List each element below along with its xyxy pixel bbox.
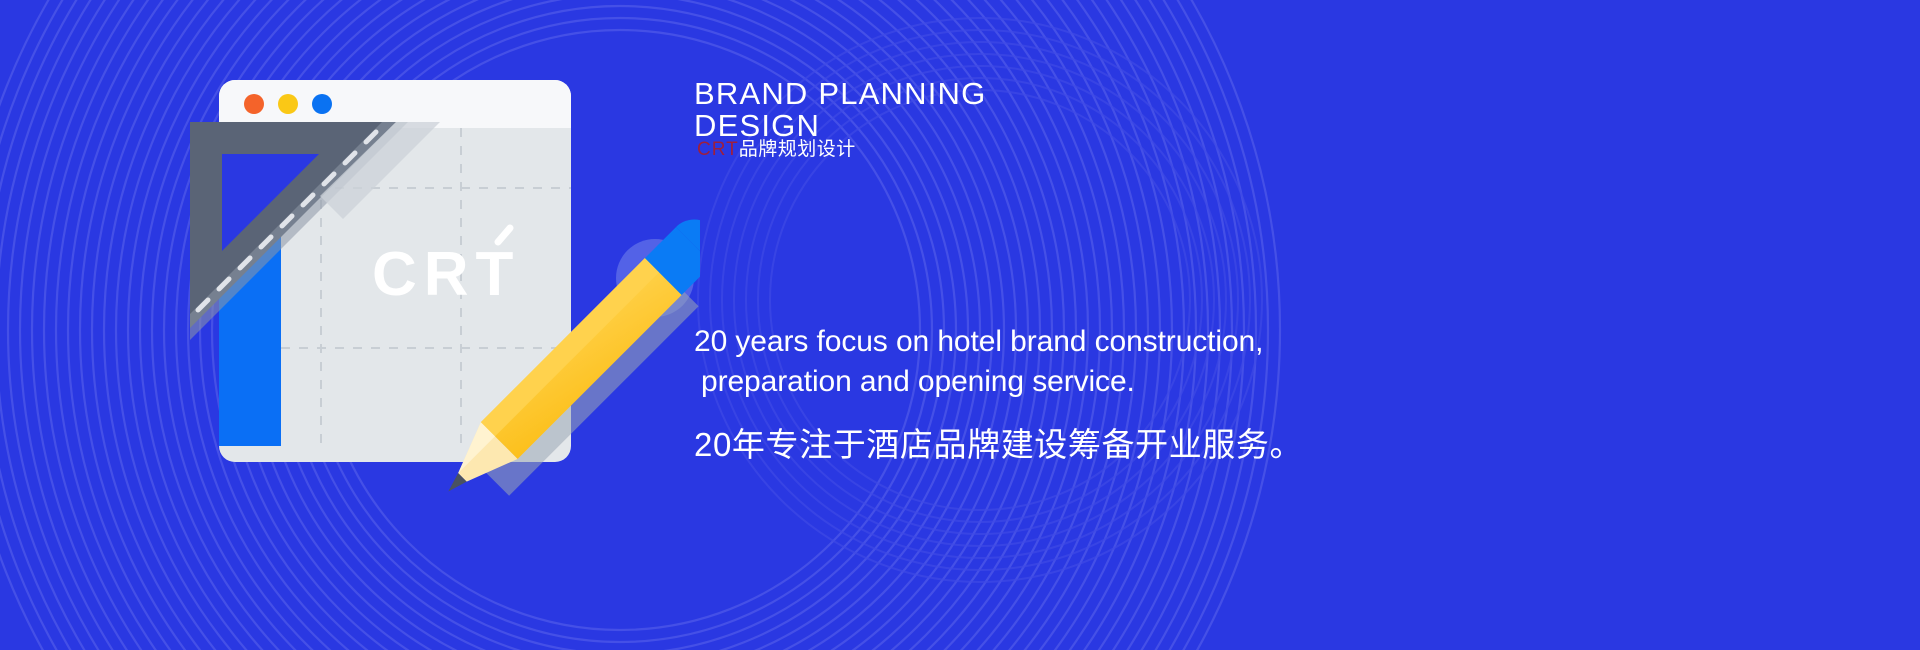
window-dots <box>244 94 332 114</box>
crt-watermark: CRT <box>372 240 520 309</box>
subtitle-text: 品牌规划设计 <box>739 139 856 160</box>
window-title-bar <box>219 80 571 128</box>
subtitle-brand: CRT <box>697 139 739 160</box>
page-title: BRAND PLANNING DESIGN <box>694 78 1394 142</box>
tagline: 20 years focus on hotel brand constructi… <box>694 322 1454 465</box>
brand-design-illustration: CRT <box>180 60 700 590</box>
minimize-dot <box>278 94 298 114</box>
brand-banner: CRT <box>0 0 1920 650</box>
tagline-chinese: 20年专注于酒店品牌建设筹备开业服务。 <box>694 424 1454 465</box>
close-dot <box>244 94 264 114</box>
banner-text-column: BRAND PLANNING DESIGN CRT品牌规划设计 20 years… <box>694 0 1794 650</box>
tagline-en-line-2: preparation and opening service. <box>694 362 1454 402</box>
subtitle: CRT品牌规划设计 <box>697 139 856 162</box>
tagline-english: 20 years focus on hotel brand constructi… <box>694 322 1454 402</box>
tagline-en-line-1: 20 years focus on hotel brand constructi… <box>694 322 1454 362</box>
heading-line-2: DESIGN <box>694 110 1394 142</box>
maximize-dot <box>312 94 332 114</box>
heading-line-1: BRAND PLANNING <box>694 78 1394 110</box>
